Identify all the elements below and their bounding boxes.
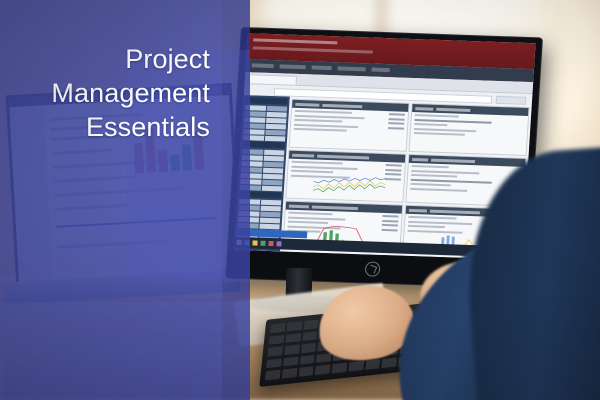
detail-panel-body: [410, 112, 528, 155]
title-line-3: Essentials: [0, 110, 210, 144]
summary-panel-body: [290, 108, 408, 151]
screenshot-canvas: Project Management Essentials: [0, 0, 600, 400]
trend-panel[interactable]: [285, 150, 406, 203]
trend-panel-body: [286, 159, 404, 202]
taskbar-icon-folder[interactable]: [252, 240, 257, 245]
taskbar-icon-sheet[interactable]: [260, 241, 265, 246]
trend-chart-svg: [312, 171, 385, 198]
brand-overlay-bottom: [0, 302, 250, 400]
taskbar-icon-app[interactable]: [268, 241, 273, 246]
dashboard-row-top: [289, 99, 530, 156]
page-title: Project Management Essentials: [0, 42, 222, 144]
trend-panel-chart: [312, 171, 385, 198]
taskbar-icon-mail[interactable]: [276, 241, 281, 246]
dashboard-row-middle: [285, 150, 526, 207]
summary-panel[interactable]: [289, 99, 410, 152]
title-line-2: Management: [0, 76, 210, 110]
title-line-1: Project: [0, 42, 210, 76]
detail-panel[interactable]: [409, 103, 530, 156]
